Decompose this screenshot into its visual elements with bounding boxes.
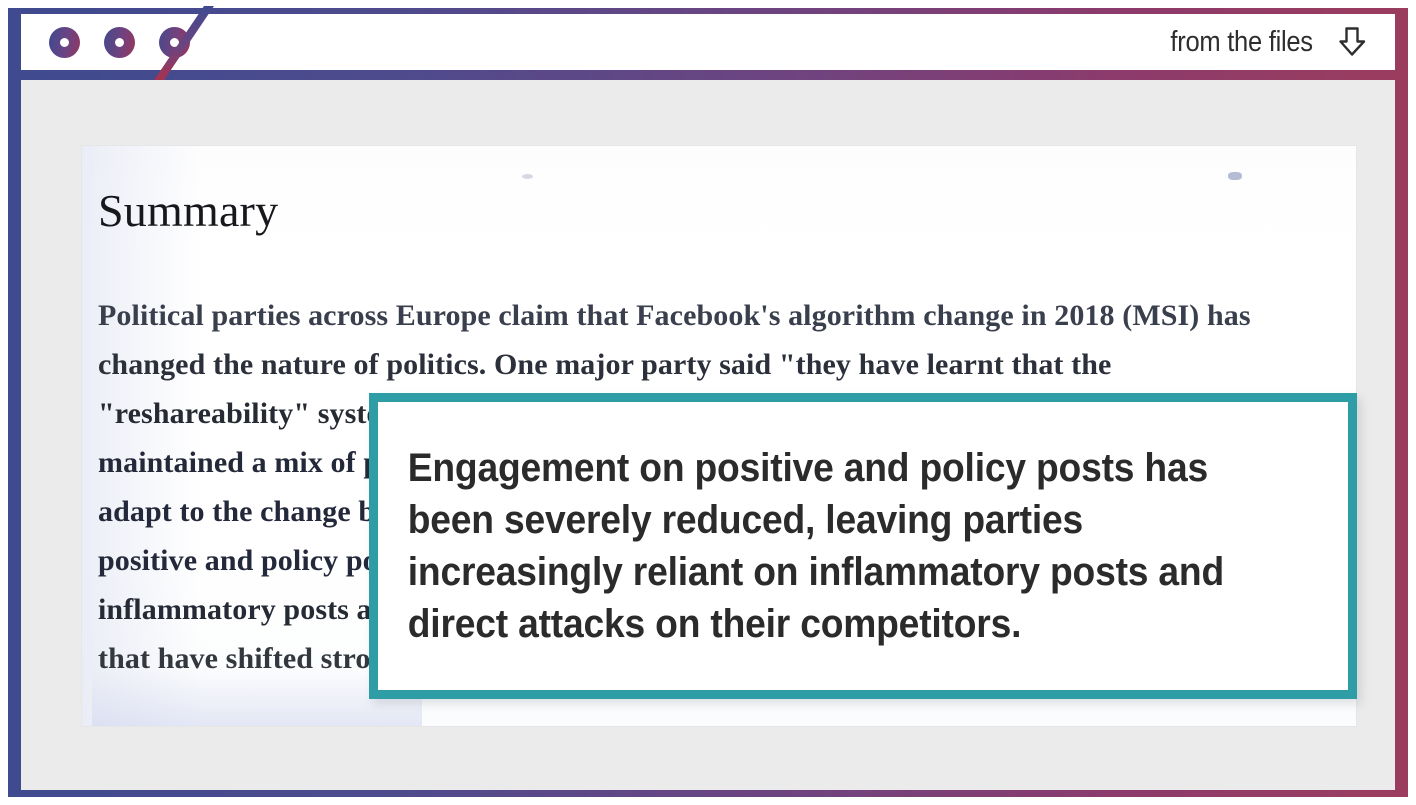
document-line: changed the nature of politics. One majo… <box>98 340 1312 389</box>
content-viewport: Summary Political parties across Europe … <box>21 80 1395 790</box>
titlebar-right-group: from the files <box>1151 25 1369 59</box>
browser-window-frame: from the files Summary Political parties… <box>8 8 1408 797</box>
header-label: from the files <box>1171 26 1313 59</box>
window-close-dot-icon[interactable] <box>49 27 80 58</box>
window-maximize-dot-icon[interactable] <box>159 27 190 58</box>
highlight-callout-box: Engagement on positive and policy posts … <box>369 393 1357 699</box>
download-arrow-icon <box>1335 25 1369 59</box>
highlight-callout-text: Engagement on positive and policy posts … <box>378 442 1280 650</box>
browser-titlebar: from the files <box>21 14 1395 70</box>
document-heading: Summary <box>98 184 1312 237</box>
download-arrow-button[interactable] <box>1335 25 1369 59</box>
screenshot-root: from the files Summary Political parties… <box>0 0 1416 805</box>
window-minimize-dot-icon[interactable] <box>104 27 135 58</box>
document-line: Political parties across Europe claim th… <box>98 291 1312 340</box>
window-controls <box>49 27 190 58</box>
